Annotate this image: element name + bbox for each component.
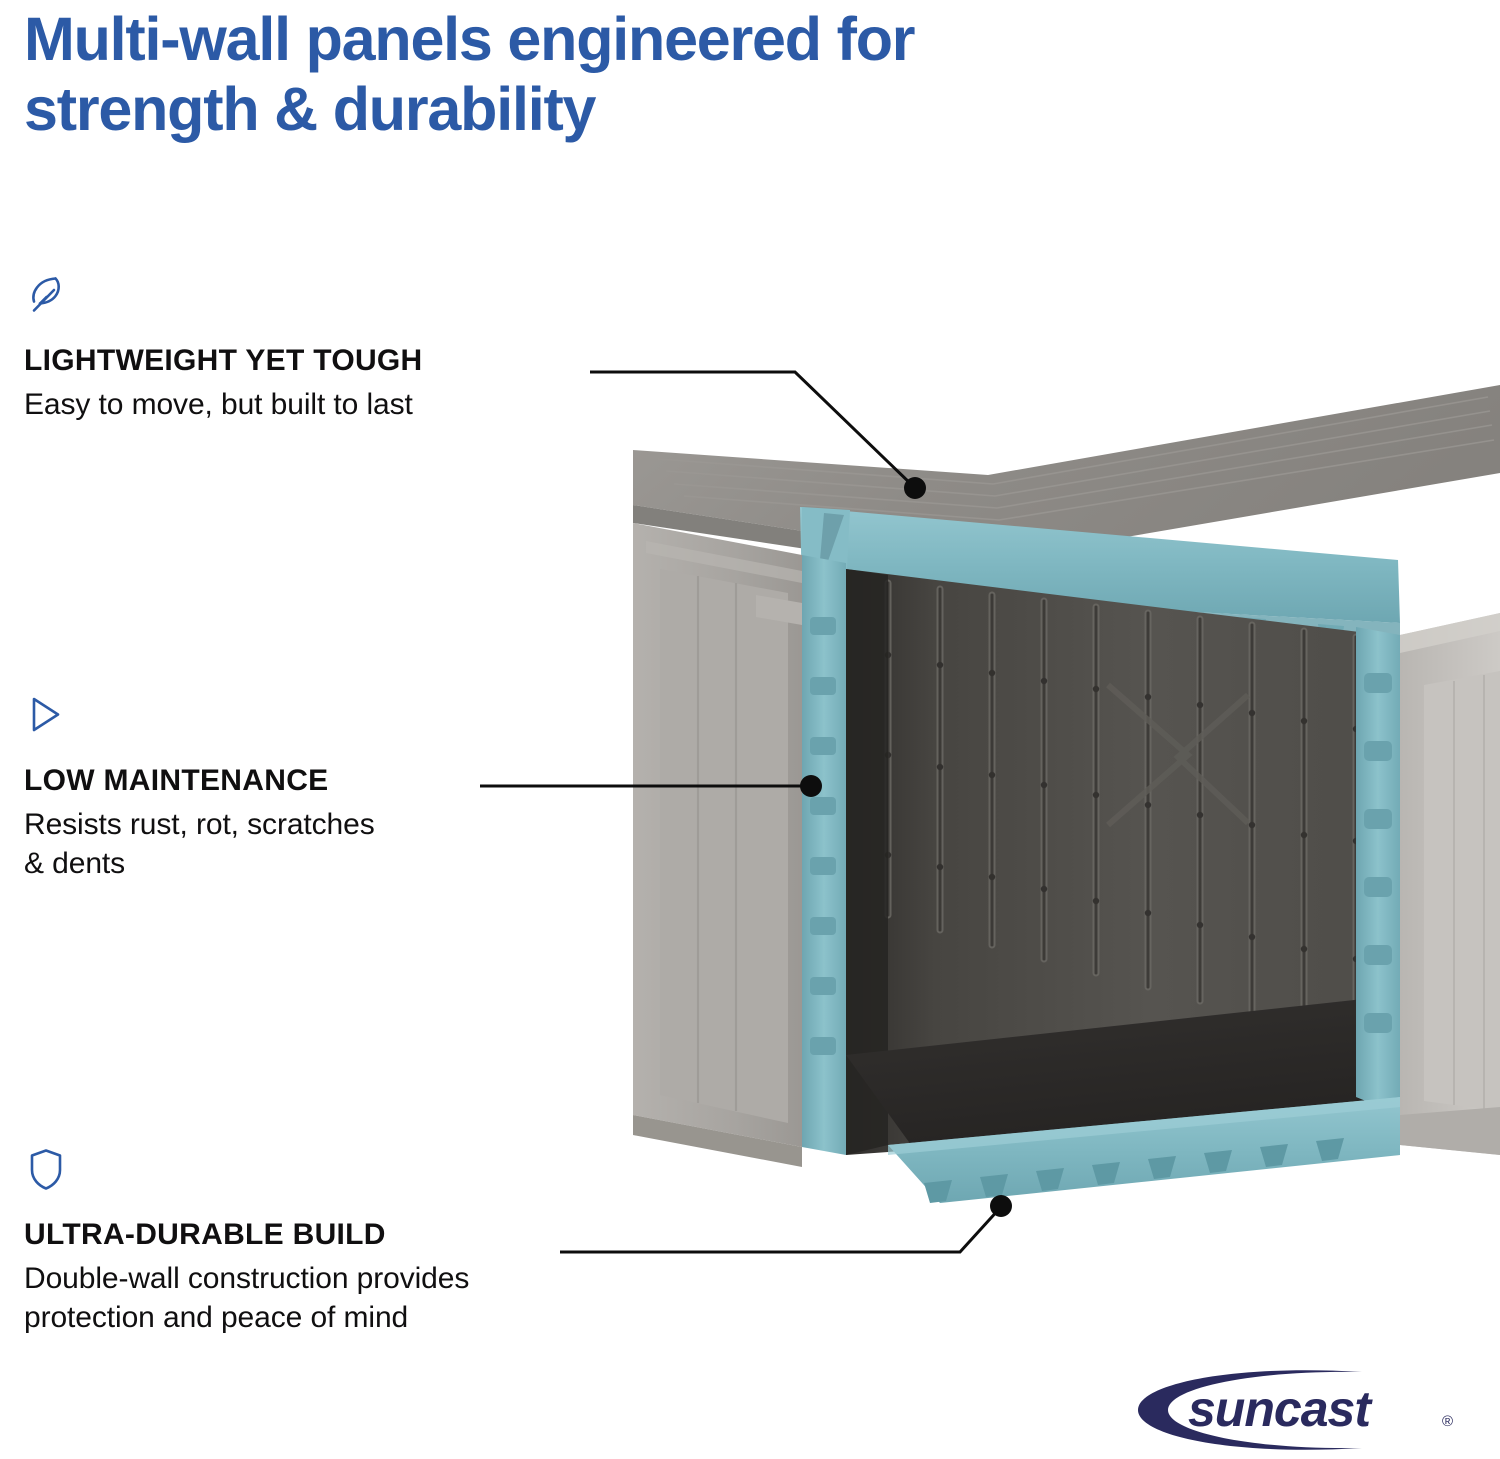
feature-block-ultra-durable: ULTRA-DURABLE BUILD Double-wall construc… (24, 1146, 724, 1337)
feature-title: LIGHTWEIGHT YET TOUGH (24, 344, 724, 378)
logo-wordmark: suncast (1188, 1381, 1373, 1437)
feature-title: LOW MAINTENANCE (24, 764, 724, 798)
feature-block-low-maintenance: LOW MAINTENANCE Resists rust, rot, scrat… (24, 692, 724, 883)
page-title: Multi-wall panels engineered for strengt… (24, 4, 1204, 144)
headline-line-1: Multi-wall panels engineered for (24, 4, 1204, 74)
feature-description: Easy to move, but built to last (24, 385, 724, 424)
product-illustration (588, 355, 1500, 1267)
suncast-logo: suncast ® (1112, 1368, 1472, 1452)
feature-block-lightweight: LIGHTWEIGHT YET TOUGH Easy to move, but … (24, 272, 724, 424)
feather-icon (24, 272, 68, 318)
headline-line-2: strength & durability (24, 74, 1204, 144)
feature-title: ULTRA-DURABLE BUILD (24, 1218, 724, 1252)
feature-description: Double-wall construction provides protec… (24, 1259, 724, 1337)
logo-trademark: ® (1442, 1413, 1453, 1430)
feature-description: Resists rust, rot, scratches & dents (24, 805, 724, 883)
play-triangle-icon (24, 692, 68, 738)
infographic-canvas: Multi-wall panels engineered for strengt… (0, 0, 1500, 1459)
shield-icon (24, 1146, 68, 1192)
